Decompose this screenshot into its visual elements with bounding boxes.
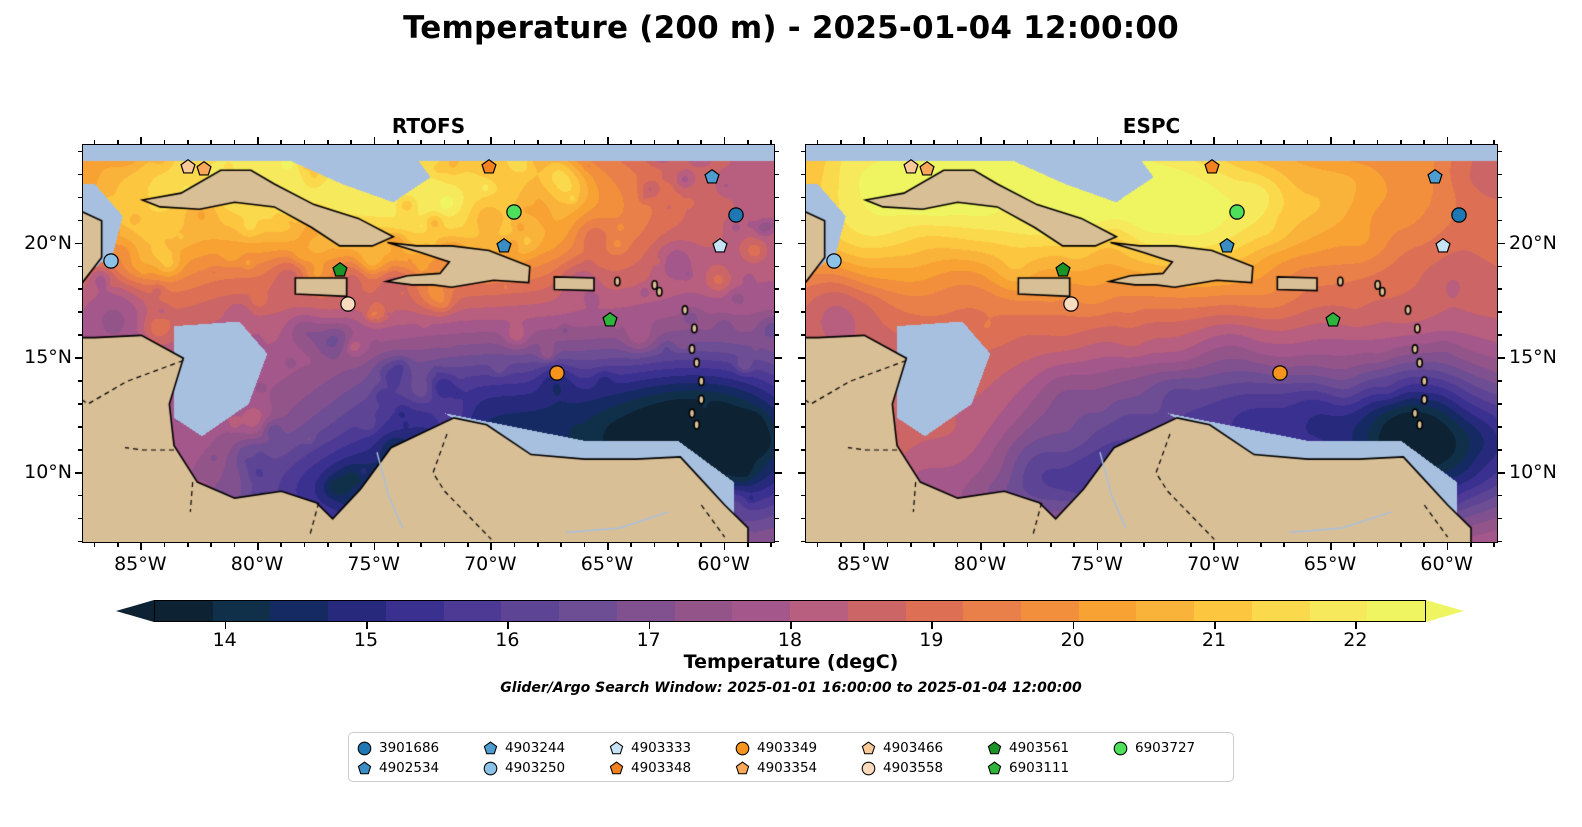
y-tick-right-espc <box>1498 174 1502 176</box>
y-tick-right-espc <box>1498 266 1502 268</box>
x-tick-rtofs <box>304 543 306 547</box>
y-tick-left-espc <box>801 334 805 336</box>
legend-item-4903558[interactable]: 4903558 <box>861 758 987 778</box>
y-tick-right-espc <box>1498 541 1502 543</box>
x-tick-label-espc: 75°W <box>1070 553 1122 575</box>
x-tick-top-espc <box>1097 137 1099 144</box>
x-tick-top-rtofs <box>514 140 516 144</box>
x-tick-espc <box>1353 543 1355 547</box>
legend-label: 4903558 <box>883 760 943 776</box>
colorbar-tick <box>1214 622 1216 629</box>
map-marker-4903333[interactable] <box>1435 237 1452 254</box>
x-tick-top-rtofs <box>187 140 189 144</box>
legend-item-4903354[interactable]: 4903354 <box>735 758 861 778</box>
page-title: Temperature (200 m) - 2025-01-04 12:00:0… <box>0 10 1582 46</box>
colorbar-tick <box>931 622 933 629</box>
x-tick-espc <box>1237 543 1239 547</box>
x-tick-espc <box>1283 543 1285 547</box>
map-marker-4903466[interactable] <box>903 158 920 175</box>
y-tick-left-rtofs <box>78 518 82 520</box>
x-tick-top-espc <box>1120 140 1122 144</box>
y-tick-left-rtofs <box>78 220 82 222</box>
colorbar-segment-5 <box>444 601 502 621</box>
x-tick-espc <box>1097 543 1099 550</box>
y-tick-left-rtofs <box>78 449 82 451</box>
legend-marker-pentagon-icon <box>609 741 624 756</box>
x-tick-top-espc <box>863 137 865 144</box>
colorbar-segment-9 <box>675 601 733 621</box>
colorbar-tick <box>790 622 792 629</box>
legend-marker-pentagon-icon <box>987 741 1002 756</box>
legend-label: 4903244 <box>505 740 565 756</box>
figure-canvas: Temperature (200 m) - 2025-01-04 12:00:0… <box>0 0 1582 827</box>
y-tick-left-rtofs <box>78 311 82 313</box>
y-tick-right-rtofs <box>775 403 779 405</box>
x-tick-label-rtofs: 75°W <box>347 553 399 575</box>
legend-marker-circle-icon <box>357 741 372 756</box>
x-tick-top-rtofs <box>420 140 422 144</box>
y-tick-right-espc <box>1498 495 1502 497</box>
map-marker-4903561[interactable] <box>1054 261 1071 278</box>
legend-label: 4903354 <box>757 760 817 776</box>
colorbar-segment-16 <box>1079 601 1137 621</box>
x-tick-espc <box>1377 543 1379 547</box>
y-tick-left-espc <box>801 518 805 520</box>
x-tick-label-espc: 85°W <box>837 553 889 575</box>
legend-marker-pentagon-icon <box>861 741 876 756</box>
legend-item-4902534[interactable]: 4902534 <box>357 758 483 778</box>
colorbar-tick-label: 18 <box>778 629 802 651</box>
colorbar-tick-label: 14 <box>213 629 237 651</box>
map-marker-4903466[interactable] <box>180 158 197 175</box>
legend-marker-pentagon-icon <box>357 761 372 776</box>
x-tick-top-espc <box>1330 137 1332 144</box>
map-marker-4903349[interactable] <box>1271 365 1288 382</box>
y-tick-label-right: 15°N <box>1509 346 1557 368</box>
legend-label: 4903349 <box>757 740 817 756</box>
y-tick-right-espc <box>1498 243 1505 245</box>
x-tick-rtofs <box>724 543 726 550</box>
colorbar-tick <box>507 622 509 629</box>
y-tick-right-rtofs <box>775 311 779 313</box>
map-marker-4903333[interactable] <box>712 237 729 254</box>
x-tick-label-rtofs: 80°W <box>231 553 283 575</box>
x-tick-espc <box>1307 543 1309 547</box>
x-tick-espc <box>1167 543 1169 547</box>
x-tick-espc <box>1213 543 1215 550</box>
x-tick-espc <box>1423 543 1425 547</box>
map-panel-espc[interactable] <box>805 144 1498 543</box>
x-tick-top-espc <box>1050 140 1052 144</box>
x-tick-top-rtofs <box>607 137 609 144</box>
colorbar-segment-14 <box>963 601 1021 621</box>
colorbar-segment-3 <box>328 601 386 621</box>
y-tick-left-espc <box>801 311 805 313</box>
x-tick-label-espc: 80°W <box>954 553 1006 575</box>
x-tick-top-espc <box>1237 140 1239 144</box>
x-tick-top-rtofs <box>537 140 539 144</box>
colorbar-tick-label: 19 <box>919 629 943 651</box>
colorbar-segment-18 <box>1194 601 1252 621</box>
map-marker-4903250[interactable] <box>826 252 843 269</box>
x-tick-espc <box>1027 543 1029 547</box>
x-tick-top-rtofs <box>374 137 376 144</box>
y-tick-left-rtofs <box>75 243 82 245</box>
colorbar-segment-8 <box>617 601 675 621</box>
colorbar-tick <box>366 622 368 629</box>
x-tick-top-espc <box>1470 140 1472 144</box>
x-tick-label-rtofs: 60°W <box>697 553 749 575</box>
x-tick-espc <box>957 543 959 547</box>
map-marker-4903250[interactable] <box>103 252 120 269</box>
legend-item-4903349[interactable]: 4903349 <box>735 738 861 758</box>
colorbar-segment-20 <box>1310 601 1368 621</box>
colorbar-tick <box>1073 622 1075 629</box>
x-tick-rtofs <box>94 543 96 547</box>
x-tick-top-espc <box>1260 140 1262 144</box>
x-tick-espc <box>1143 543 1145 547</box>
x-tick-top-rtofs <box>327 140 329 144</box>
x-tick-label-espc: 65°W <box>1304 553 1356 575</box>
colorbar-segment-6 <box>501 601 559 621</box>
x-tick-rtofs <box>117 543 119 547</box>
legend-label: 6903727 <box>1135 740 1195 756</box>
x-tick-top-espc <box>1003 140 1005 144</box>
x-tick-label-espc: 60°W <box>1420 553 1472 575</box>
y-tick-left-espc <box>801 495 805 497</box>
legend-label: 4903250 <box>505 760 565 776</box>
temperature-field-espc <box>806 145 1498 543</box>
x-tick-rtofs <box>280 543 282 547</box>
x-tick-top-rtofs <box>304 140 306 144</box>
x-tick-top-espc <box>1213 137 1215 144</box>
map-marker-4903349[interactable] <box>548 365 565 382</box>
x-tick-rtofs <box>747 543 749 547</box>
x-tick-top-rtofs <box>234 140 236 144</box>
legend-box: 3901686490324449033334903349490346649035… <box>348 732 1234 782</box>
x-tick-rtofs <box>444 543 446 547</box>
colorbar-segment-1 <box>213 601 271 621</box>
colorbar-extend-low-arrow <box>116 600 154 622</box>
x-tick-top-rtofs <box>117 140 119 144</box>
x-tick-espc <box>1003 543 1005 547</box>
y-tick-right-rtofs <box>775 334 779 336</box>
colorbar-label: Temperature (degC) <box>0 651 1582 673</box>
x-tick-label-rtofs: 65°W <box>581 553 633 575</box>
map-marker-4903558[interactable] <box>339 296 356 313</box>
colorbar-tick-label: 22 <box>1343 629 1367 651</box>
x-tick-rtofs <box>420 543 422 547</box>
panel-title-rtofs: RTOFS <box>82 114 775 138</box>
x-tick-label-rtofs: 70°W <box>464 553 516 575</box>
x-tick-rtofs <box>630 543 632 547</box>
y-tick-left-rtofs <box>78 197 82 199</box>
y-tick-right-espc <box>1498 380 1502 382</box>
x-tick-rtofs <box>490 543 492 550</box>
x-tick-top-espc <box>1190 140 1192 144</box>
colorbar-segment-4 <box>386 601 444 621</box>
colorbar-segment-13 <box>906 601 964 621</box>
map-marker-4903354[interactable] <box>919 161 936 178</box>
x-tick-rtofs <box>770 543 772 547</box>
y-tick-left-espc <box>801 541 805 543</box>
y-tick-label-left: 20°N <box>0 232 72 254</box>
legend-item-4903333[interactable]: 4903333 <box>609 738 735 758</box>
y-tick-right-espc <box>1498 334 1502 336</box>
x-tick-top-espc <box>1377 140 1379 144</box>
y-tick-left-rtofs <box>78 403 82 405</box>
x-tick-top-espc <box>1073 140 1075 144</box>
x-tick-top-rtofs <box>94 140 96 144</box>
x-tick-top-rtofs <box>770 140 772 144</box>
y-tick-left-rtofs <box>78 380 82 382</box>
x-tick-top-espc <box>1143 140 1145 144</box>
y-tick-left-espc <box>801 151 805 153</box>
x-tick-rtofs <box>514 543 516 547</box>
x-tick-top-rtofs <box>490 137 492 144</box>
x-tick-top-espc <box>910 140 912 144</box>
panel-title-espc: ESPC <box>805 114 1498 138</box>
map-marker-4903561[interactable] <box>331 261 348 278</box>
y-tick-right-espc <box>1498 518 1502 520</box>
colorbar-segment-19 <box>1252 601 1310 621</box>
y-tick-right-rtofs <box>775 518 779 520</box>
temperature-field-rtofs <box>83 145 775 543</box>
legend-marker-pentagon-icon <box>483 741 498 756</box>
y-tick-right-rtofs <box>775 197 779 199</box>
x-tick-top-espc <box>1447 137 1449 144</box>
y-tick-right-espc <box>1498 151 1502 153</box>
legend-label: 3901686 <box>379 740 439 756</box>
map-panel-rtofs[interactable] <box>82 144 775 543</box>
y-tick-left-espc <box>801 403 805 405</box>
colorbar-tick-label: 15 <box>354 629 378 651</box>
x-tick-top-espc <box>1423 140 1425 144</box>
x-tick-espc <box>817 543 819 547</box>
x-tick-top-rtofs <box>630 140 632 144</box>
legend-item-3901686[interactable]: 3901686 <box>357 738 483 758</box>
y-tick-right-rtofs <box>775 151 779 153</box>
map-marker-4903348[interactable] <box>481 158 498 175</box>
x-tick-top-rtofs <box>164 140 166 144</box>
colorbar-tick-label: 17 <box>637 629 661 651</box>
legend-marker-pentagon-icon <box>987 761 1002 776</box>
y-tick-left-rtofs <box>78 426 82 428</box>
y-tick-left-espc <box>801 380 805 382</box>
y-tick-left-espc <box>801 266 805 268</box>
y-tick-right-rtofs <box>775 472 782 474</box>
y-tick-right-espc <box>1498 472 1505 474</box>
y-tick-right-espc <box>1498 449 1502 451</box>
y-tick-right-espc <box>1498 288 1502 290</box>
legend-item-4903244[interactable]: 4903244 <box>483 738 609 758</box>
colorbar-tick <box>225 622 227 629</box>
y-tick-label-right: 10°N <box>1509 461 1557 483</box>
x-tick-top-rtofs <box>747 140 749 144</box>
legend-grid: 3901686490324449033334903349490346649035… <box>357 738 1239 778</box>
y-tick-label-right: 20°N <box>1509 232 1557 254</box>
x-tick-espc <box>1260 543 1262 547</box>
legend-label: 4903466 <box>883 740 943 756</box>
map-marker-3901686[interactable] <box>1451 206 1468 223</box>
y-tick-right-rtofs <box>775 426 779 428</box>
map-marker-4902534[interactable] <box>1219 237 1236 254</box>
x-tick-top-rtofs <box>257 137 259 144</box>
colorbar-extend-high-arrow <box>1426 600 1464 622</box>
legend-label: 4903561 <box>1009 740 1069 756</box>
y-tick-left-rtofs <box>78 495 82 497</box>
x-tick-rtofs <box>560 543 562 547</box>
y-tick-right-espc <box>1498 220 1502 222</box>
x-tick-espc <box>1330 543 1332 550</box>
x-tick-rtofs <box>210 543 212 547</box>
x-tick-rtofs <box>140 543 142 550</box>
x-tick-rtofs <box>654 543 656 547</box>
y-tick-right-rtofs <box>775 220 779 222</box>
x-tick-rtofs <box>187 543 189 547</box>
y-tick-label-left: 15°N <box>0 346 72 368</box>
legend-label: 4903333 <box>631 740 691 756</box>
y-tick-right-rtofs <box>775 357 782 359</box>
map-marker-6903111[interactable] <box>1325 312 1342 329</box>
x-tick-rtofs <box>584 543 586 547</box>
colorbar-segment-12 <box>848 601 906 621</box>
x-tick-espc <box>1447 543 1449 550</box>
y-tick-label-left: 10°N <box>0 461 72 483</box>
map-marker-6903111[interactable] <box>602 312 619 329</box>
x-tick-rtofs <box>350 543 352 547</box>
x-tick-top-rtofs <box>677 140 679 144</box>
map-marker-4902534[interactable] <box>496 237 513 254</box>
colorbar-segment-10 <box>732 601 790 621</box>
colorbar-tick-label: 16 <box>495 629 519 651</box>
x-tick-rtofs <box>677 543 679 547</box>
x-tick-top-rtofs <box>467 140 469 144</box>
y-tick-left-rtofs <box>78 334 82 336</box>
colorbar-tick <box>649 622 651 629</box>
x-tick-espc <box>1073 543 1075 547</box>
colorbar-segment-2 <box>270 601 328 621</box>
x-tick-top-rtofs <box>397 140 399 144</box>
colorbar: 141516171819202122 <box>116 600 1464 622</box>
colorbar-segment-21 <box>1367 601 1425 621</box>
map-marker-3901686[interactable] <box>728 206 745 223</box>
y-tick-right-rtofs <box>775 288 779 290</box>
y-tick-right-espc <box>1498 403 1502 405</box>
colorbar-segment-15 <box>1021 601 1079 621</box>
x-tick-top-rtofs <box>584 140 586 144</box>
legend-marker-pentagon-icon <box>735 761 750 776</box>
map-marker-4903244[interactable] <box>1426 169 1443 186</box>
y-tick-right-rtofs <box>775 541 779 543</box>
y-tick-right-rtofs <box>775 174 779 176</box>
x-tick-espc <box>887 543 889 547</box>
x-tick-espc <box>1190 543 1192 547</box>
x-tick-espc <box>1400 543 1402 547</box>
x-tick-top-rtofs <box>444 140 446 144</box>
x-tick-espc <box>910 543 912 547</box>
y-tick-right-rtofs <box>775 243 782 245</box>
x-tick-espc <box>1120 543 1122 547</box>
y-tick-right-espc <box>1498 426 1502 428</box>
y-tick-left-espc <box>798 472 805 474</box>
x-tick-espc <box>933 543 935 547</box>
colorbar-tick-label: 20 <box>1061 629 1085 651</box>
y-tick-left-espc <box>801 174 805 176</box>
x-tick-top-espc <box>1307 140 1309 144</box>
y-tick-right-espc <box>1498 197 1502 199</box>
x-tick-top-espc <box>887 140 889 144</box>
map-marker-4903558[interactable] <box>1062 296 1079 313</box>
colorbar-tick <box>1355 622 1357 629</box>
x-tick-rtofs <box>234 543 236 547</box>
y-tick-left-rtofs <box>78 541 82 543</box>
y-tick-right-espc <box>1498 311 1502 313</box>
x-tick-top-rtofs <box>560 140 562 144</box>
x-tick-top-espc <box>980 137 982 144</box>
map-marker-6903727[interactable] <box>1228 203 1245 220</box>
legend-item-4903466[interactable]: 4903466 <box>861 738 987 758</box>
x-tick-label-rtofs: 85°W <box>114 553 166 575</box>
y-tick-left-rtofs <box>78 266 82 268</box>
legend-item-4903250[interactable]: 4903250 <box>483 758 609 778</box>
x-tick-top-espc <box>933 140 935 144</box>
y-tick-left-espc <box>801 288 805 290</box>
x-tick-top-espc <box>1353 140 1355 144</box>
y-tick-right-rtofs <box>775 495 779 497</box>
x-tick-top-rtofs <box>724 137 726 144</box>
x-tick-top-espc <box>1493 140 1495 144</box>
map-marker-4903354[interactable] <box>196 161 213 178</box>
y-tick-left-espc <box>798 243 805 245</box>
legend-marker-pentagon-icon <box>609 761 624 776</box>
legend-item-4903561[interactable]: 4903561 <box>987 738 1113 758</box>
x-tick-rtofs <box>700 543 702 547</box>
legend-marker-circle-icon <box>861 761 876 776</box>
map-marker-6903727[interactable] <box>505 203 522 220</box>
legend-item-4903348[interactable]: 4903348 <box>609 758 735 778</box>
x-tick-label-espc: 70°W <box>1187 553 1239 575</box>
y-tick-right-rtofs <box>775 266 779 268</box>
x-tick-top-espc <box>840 140 842 144</box>
y-tick-left-rtofs <box>78 288 82 290</box>
x-tick-top-rtofs <box>210 140 212 144</box>
legend-marker-circle-icon <box>483 761 498 776</box>
x-tick-top-rtofs <box>654 140 656 144</box>
y-tick-right-rtofs <box>775 449 779 451</box>
colorbar-segment-0 <box>155 601 213 621</box>
x-tick-top-rtofs <box>350 140 352 144</box>
map-marker-4903348[interactable] <box>1204 158 1221 175</box>
x-tick-rtofs <box>257 543 259 550</box>
map-marker-4903244[interactable] <box>703 169 720 186</box>
y-tick-left-espc <box>801 449 805 451</box>
legend-label: 4903348 <box>631 760 691 776</box>
legend-item-6903111[interactable]: 6903111 <box>987 758 1113 778</box>
legend-item-6903727[interactable]: 6903727 <box>1113 738 1239 758</box>
colorbar-segment-17 <box>1136 601 1194 621</box>
x-tick-rtofs <box>607 543 609 550</box>
x-tick-top-rtofs <box>700 140 702 144</box>
colorbar-tick-label: 21 <box>1202 629 1226 651</box>
x-tick-espc <box>1493 543 1495 547</box>
legend-label: 6903111 <box>1009 760 1069 776</box>
y-tick-left-rtofs <box>75 357 82 359</box>
x-tick-espc <box>1470 543 1472 547</box>
y-tick-left-espc <box>801 220 805 222</box>
colorbar-segment-7 <box>559 601 617 621</box>
y-tick-left-rtofs <box>78 174 82 176</box>
